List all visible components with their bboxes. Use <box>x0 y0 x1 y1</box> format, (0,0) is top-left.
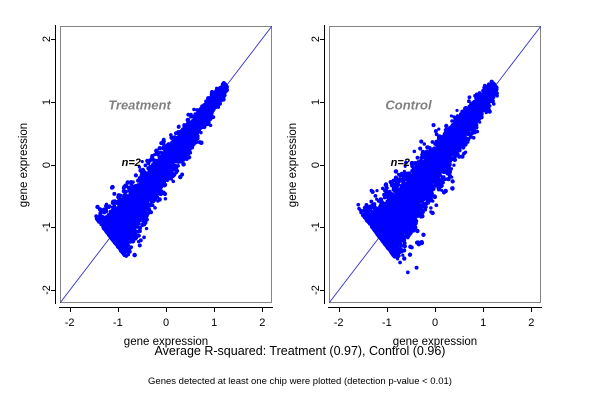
x-tick <box>118 308 119 312</box>
y-tick-label: -1 <box>310 223 322 233</box>
x-tick-label: 1 <box>480 317 486 329</box>
scatter-points-treatment <box>60 26 272 303</box>
x-tick <box>387 308 388 312</box>
x-tick-label: 1 <box>211 317 217 329</box>
y-tick-label: 0 <box>310 161 322 167</box>
x-tick <box>262 308 263 312</box>
y-axis-line <box>324 25 325 304</box>
x-tick-label: 2 <box>259 317 265 329</box>
x-tick-label: 2 <box>528 317 534 329</box>
x-tick-label: -1 <box>382 317 392 329</box>
plot-area-control <box>329 26 541 303</box>
scatter-points-control <box>329 26 541 303</box>
x-tick <box>166 308 167 312</box>
x-tick <box>70 308 71 312</box>
scatter-figure: -2-1012 -2-1012 gene expression gene exp… <box>0 0 600 400</box>
replicate-annotation-treatment: n=2 <box>122 157 141 169</box>
x-tick-label: -2 <box>334 317 344 329</box>
x-tick <box>339 308 340 312</box>
x-tick-label: 0 <box>163 317 169 329</box>
panel-title-control: Control <box>385 97 431 112</box>
x-tick-label: -2 <box>65 317 75 329</box>
y-tick-label: -1 <box>41 223 53 233</box>
y-tick-label: 2 <box>41 36 53 42</box>
y-tick-label: 1 <box>41 98 53 104</box>
y-tick-label: 2 <box>310 36 322 42</box>
x-tick-label: -1 <box>113 317 123 329</box>
y-axis-line <box>55 25 56 304</box>
replicate-annotation-control: n=2 <box>391 157 410 169</box>
x-tick <box>483 308 484 312</box>
y-tick-label: -2 <box>310 286 322 296</box>
panel-treatment: -2-1012 -2-1012 gene expression gene exp… <box>60 26 272 303</box>
caption-average-r-squared: Average R-squared: Treatment (0.97), Con… <box>0 344 600 358</box>
y-tick-label: 1 <box>310 98 322 104</box>
panel-title-treatment: Treatment <box>108 97 171 112</box>
x-tick <box>531 308 532 312</box>
plot-area-treatment <box>60 26 272 303</box>
panel-control: -2-1012 -2-1012 gene expression gene exp… <box>329 26 541 303</box>
y-tick-label: -2 <box>41 286 53 296</box>
x-tick <box>435 308 436 312</box>
x-tick <box>214 308 215 312</box>
y-tick-label: 0 <box>41 161 53 167</box>
caption-detection-note: Genes detected at least one chip were pl… <box>0 376 600 387</box>
x-tick-label: 0 <box>432 317 438 329</box>
y-axis-title: gene expression <box>18 122 30 206</box>
y-axis-title: gene expression <box>287 122 299 206</box>
